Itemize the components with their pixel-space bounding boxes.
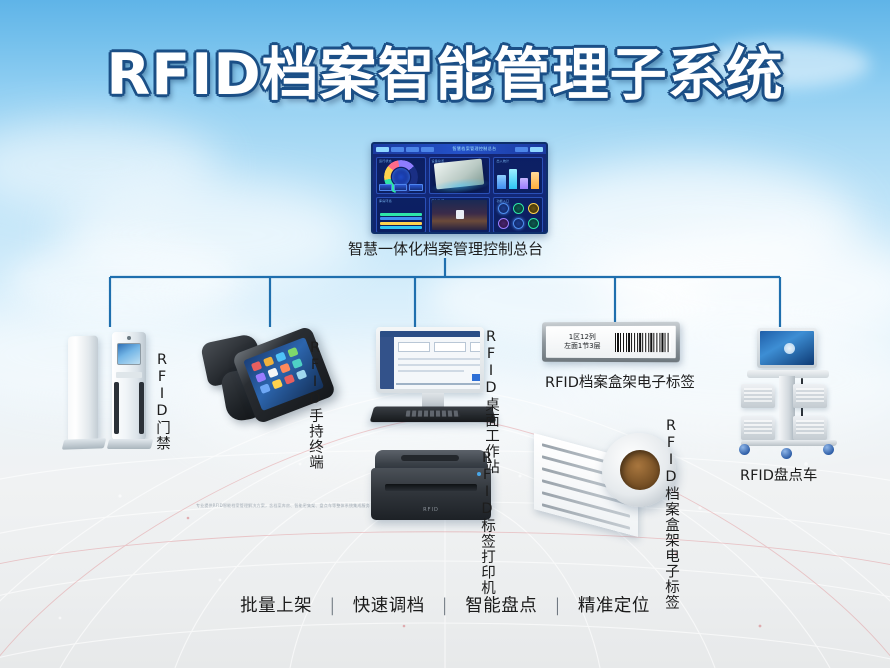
function-icon [498, 218, 509, 229]
cart-tray [793, 416, 827, 440]
dashboard-nav-chip [421, 147, 434, 152]
camera-feed-image [432, 200, 488, 231]
app-icon [263, 356, 274, 367]
wave-chart [380, 213, 422, 230]
console-label: 智慧一体化档案管理控制总台 [348, 238, 543, 259]
feature-list: 批量上架 | 快速调档 | 智能盘点 | 精准定位 [0, 592, 890, 617]
function-icon [498, 203, 509, 214]
gauge-button [409, 184, 422, 191]
cart-base [741, 440, 838, 446]
feature-separator: | [442, 596, 448, 616]
gauge-button [394, 184, 407, 191]
app-icon [279, 363, 290, 374]
function-icon [528, 218, 539, 229]
dashboard-header-bar: 智慧档案管理控制总台 [373, 144, 546, 154]
screen-row [398, 370, 464, 372]
feature-item: 精准定位 [578, 596, 650, 616]
printer-brand-badge: RFID [423, 507, 439, 513]
screen-form-field [398, 342, 430, 352]
gauge-button-row [379, 184, 423, 191]
dashboard-panel-gauge: 运行状态 [376, 157, 426, 194]
dashboard-panel-bars: 出入统计 [493, 157, 543, 194]
wave-band [380, 217, 422, 220]
reader-pad-grille [406, 411, 461, 417]
device-shelf-electronic-tag: 1区12列 左面1节3层 [542, 322, 680, 363]
barcode-icon [615, 332, 670, 351]
app-icon [255, 372, 266, 383]
cloud-decor [700, 40, 870, 88]
printer-body: RFID [371, 468, 491, 520]
app-icon [260, 383, 271, 394]
device-label-printer: RFID标签打印机 [477, 450, 498, 596]
dashboard-screen-title: 智慧档案管理控制总台 [436, 146, 513, 152]
app-icon [272, 379, 283, 390]
screen-sidebar [380, 337, 394, 389]
app-icon [284, 374, 295, 385]
camera-icon [127, 336, 131, 340]
gate-side-trim [139, 382, 144, 434]
wave-band [380, 226, 422, 229]
dashboard-panel-device: 设备总览 [429, 157, 491, 194]
dashboard-panel-monitor: 实时监控 [429, 197, 491, 234]
screen-form-field [470, 342, 480, 352]
app-icon [251, 361, 262, 372]
bar [509, 169, 517, 188]
screen-form-field [434, 342, 466, 352]
feature-item: 智能盘点 [465, 596, 537, 616]
dashboard-nav-chip [376, 147, 389, 152]
cart-tray [793, 384, 827, 408]
workstation-screen [380, 331, 480, 389]
device-desktop-workstation [372, 327, 494, 425]
feature-separator: | [329, 596, 335, 616]
shelf-tag-line1: 1区12列 [550, 333, 615, 342]
device-label-cart: RFID盘点车 [740, 464, 817, 485]
cloud-decor [250, 60, 370, 98]
panel-title: 出入统计 [496, 159, 509, 163]
cart-monitor [757, 328, 817, 368]
cart-caster-wheel [781, 448, 792, 459]
dashboard-nav-chip [515, 147, 528, 152]
wave-band [380, 222, 422, 225]
feature-separator: | [554, 596, 560, 616]
cart-screen [760, 331, 814, 365]
printer-output-slot [385, 484, 477, 491]
workstation-monitor [376, 327, 484, 393]
bar [520, 178, 528, 189]
bar-chart [497, 166, 539, 189]
device-label-tag-roll: RFID档案盒架电子标签 [661, 418, 682, 610]
device-label-gate: RFID门禁 [152, 352, 173, 451]
shelf-tag-face: 1区12列 左面1节3层 [546, 326, 676, 358]
cart-tray [741, 416, 775, 440]
rfid-antenna-trace [542, 503, 630, 530]
cart-caster-wheel [823, 444, 834, 455]
panel-title: 库房环境 [379, 199, 392, 203]
cart-tray [741, 384, 775, 408]
gate-pillar-left [68, 335, 98, 440]
function-icon [513, 218, 524, 229]
poster-canvas: RFID档案智能管理子系统 智慧档案管理控制总台 运行状态 [0, 0, 890, 668]
function-icon-grid [496, 202, 540, 231]
device-inventory-cart [735, 328, 845, 458]
app-icon [292, 358, 303, 369]
gauge-button [379, 184, 392, 191]
watermark-text: 专业提供RFID智能档案管理解决方案，含档案库房、智能密集架、盘点车等整体系统集… [196, 503, 370, 509]
cart-caster-wheel [739, 444, 750, 455]
device-3d-model [434, 158, 484, 189]
bar [497, 175, 505, 189]
app-icon [275, 352, 286, 363]
gate-side-trim [114, 382, 119, 434]
shelf-tag-text: 1区12列 左面1节3层 [546, 333, 615, 350]
gate-display-screen [117, 343, 141, 365]
gate-pillar-right [112, 332, 146, 440]
console-dashboard-screen: 智慧档案管理控制总台 运行状态 设备总览 出入统计 [371, 142, 548, 234]
screen-row [398, 364, 480, 366]
shelf-tag-line2: 左面1节3层 [550, 342, 615, 351]
app-icon [267, 367, 278, 378]
dashboard-nav-chip [530, 147, 543, 152]
bar [531, 172, 539, 188]
dashboard-nav-chip [391, 147, 404, 152]
monitor-stand [422, 393, 444, 407]
feature-item: 快速调档 [353, 596, 425, 616]
wave-band [380, 213, 422, 216]
device-label-printer: RFID [371, 450, 491, 520]
dashboard-panel-entries: 功能入口 [493, 197, 543, 234]
workstation-reader-pad [370, 406, 497, 422]
gate-sensor-strip [116, 372, 142, 378]
feature-item: 批量上架 [240, 596, 312, 616]
function-icon [528, 203, 539, 214]
dashboard-panels: 运行状态 设备总览 出入统计 [373, 154, 546, 234]
screen-row [398, 358, 480, 360]
app-icon [287, 347, 298, 358]
device-label-handheld: RFID手持终端 [305, 340, 326, 470]
dashboard-nav-chip [406, 147, 419, 152]
screen-statusbar [396, 383, 480, 385]
screen-button [472, 374, 480, 381]
device-label-shelf-tag: RFID档案盒架电子标签 [545, 371, 695, 392]
function-icon [513, 203, 524, 214]
dashboard-panel-environment: 库房环境 [376, 197, 426, 234]
screen-titlebar [380, 331, 480, 337]
